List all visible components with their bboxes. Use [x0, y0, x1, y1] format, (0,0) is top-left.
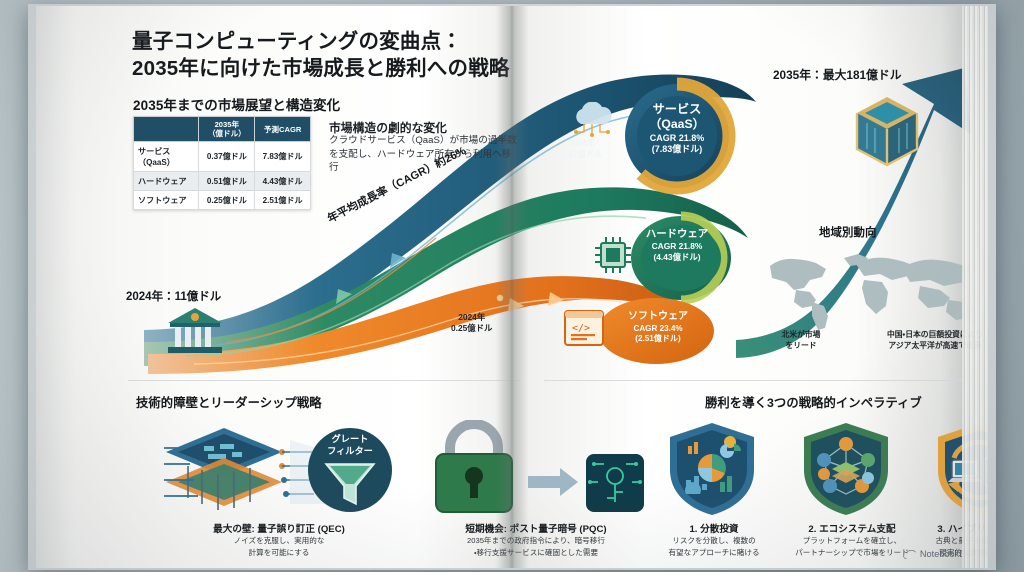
title-line-2: 2035年に向けた市場成長と勝利への戦略: [132, 55, 652, 82]
row-2035-software: 0.25億ドル: [199, 191, 255, 210]
region-north-america: 北米が市場 をリード: [758, 330, 844, 352]
bank-institution-icon: [164, 304, 226, 356]
svg-text:</>: </>: [572, 323, 590, 334]
segment-label-hardware: ハードウェア CAGR 21.8% (4.43億ドル): [624, 228, 730, 262]
strategy-heading: 勝利を導く3つの戦略的インペラティブ: [705, 393, 922, 411]
page-edge: [962, 6, 988, 568]
row-2035-hardware: 0.51億ドル: [199, 172, 255, 191]
row-label-hardware: ハードウェア: [134, 172, 199, 191]
caption-pqc: 短期機会: ポスト量子暗号 (PQC) 2035年までの政府指令により、暗号移行…: [408, 521, 664, 559]
table-col-2035: 2035年 （億ドル）: [199, 117, 255, 142]
row-label-software: ソフトウェア: [134, 191, 199, 210]
callout-2024-total: 2024年：11億ドル: [126, 288, 221, 304]
table-row: ハードウェア 0.51億ドル 4.43億ドル: [134, 172, 311, 191]
network-shield-icon: [798, 420, 894, 518]
table-row: ソフトウェア 0.25億ドル 2.51億ドル: [134, 191, 311, 210]
segment-label-service: サービス （QaaS） CAGR 21.8% (7.83億ドル): [622, 102, 732, 155]
region-heading: 地域別動向: [819, 224, 876, 240]
caption-strategy-1: 1. 分散投資 リスクを分散し、複数の 有望なアプローチに賭ける: [648, 521, 780, 559]
world-map: [752, 246, 988, 332]
pqc-lock-illustration: [424, 420, 654, 516]
row-cagr-service: 7.83億ドル: [255, 142, 311, 172]
magazine-spread: 量子コンピューティングの変曲点： 2035年に向けた市場成長と勝利への戦略 20…: [36, 6, 988, 568]
pie-chart-shield-icon: [664, 420, 760, 518]
world-map-icon: [752, 246, 988, 332]
row-label-service: サービス （QaaS）: [134, 142, 199, 172]
notebooklm-logo-icon: ◟⌒: [903, 547, 916, 561]
row-cagr-software: 2.51億ドル: [255, 191, 311, 210]
market-outlook-heading: 2035年までの市場展望と構造変化: [133, 94, 340, 114]
divider-right: [544, 380, 988, 381]
divider-left: [128, 380, 520, 381]
table-row: サービス （QaaS） 0.37億ドル 7.83億ドル: [134, 142, 311, 172]
tech-barrier-heading: 技術的障壁とリーダーシップ戦略: [136, 393, 322, 411]
callout-2035-total: 2035年：最大181億ドル: [773, 66, 902, 83]
code-window-icon: </>: [562, 308, 606, 348]
table-col-blank: [134, 117, 199, 142]
callout-service-2024: 2024年 0.37億ドル: [561, 138, 602, 161]
cloud-icon: [568, 102, 616, 138]
caption-qec: 最大の壁: 量子誤り訂正 (QEC) ノイズを克服し、実用的な 計算を可能にする: [164, 521, 394, 559]
row-2035-service: 0.37億ドル: [199, 142, 255, 172]
great-filter-label: グレート フィルター: [312, 434, 388, 458]
spread-content: 量子コンピューティングの変曲点： 2035年に向けた市場成長と勝利への戦略 20…: [36, 6, 988, 568]
market-table: 2035年 （億ドル） 予測CAGR サービス （QaaS） 0.37億ドル 7…: [133, 116, 311, 210]
segment-label-software: ソフトウェア CAGR 23.4% (2.51億ドル): [606, 311, 710, 344]
callout-software-2024: 2024年 0.25億ドル: [451, 312, 492, 335]
row-cagr-hardware: 4.43億ドル: [255, 172, 311, 191]
quantum-computer-cube-icon: [851, 91, 923, 171]
table-col-cagr: 予測CAGR: [255, 117, 311, 142]
title-line-1: 量子コンピューティングの変曲点：: [132, 28, 652, 55]
page-title: 量子コンピューティングの変曲点： 2035年に向けた市場成長と勝利への戦略: [132, 28, 652, 83]
table-header-row: 2035年 （億ドル） 予測CAGR: [134, 117, 311, 142]
infographic-screenshot: 量子コンピューティングの変曲点： 2035年に向けた市場成長と勝利への戦略 20…: [0, 0, 1024, 572]
